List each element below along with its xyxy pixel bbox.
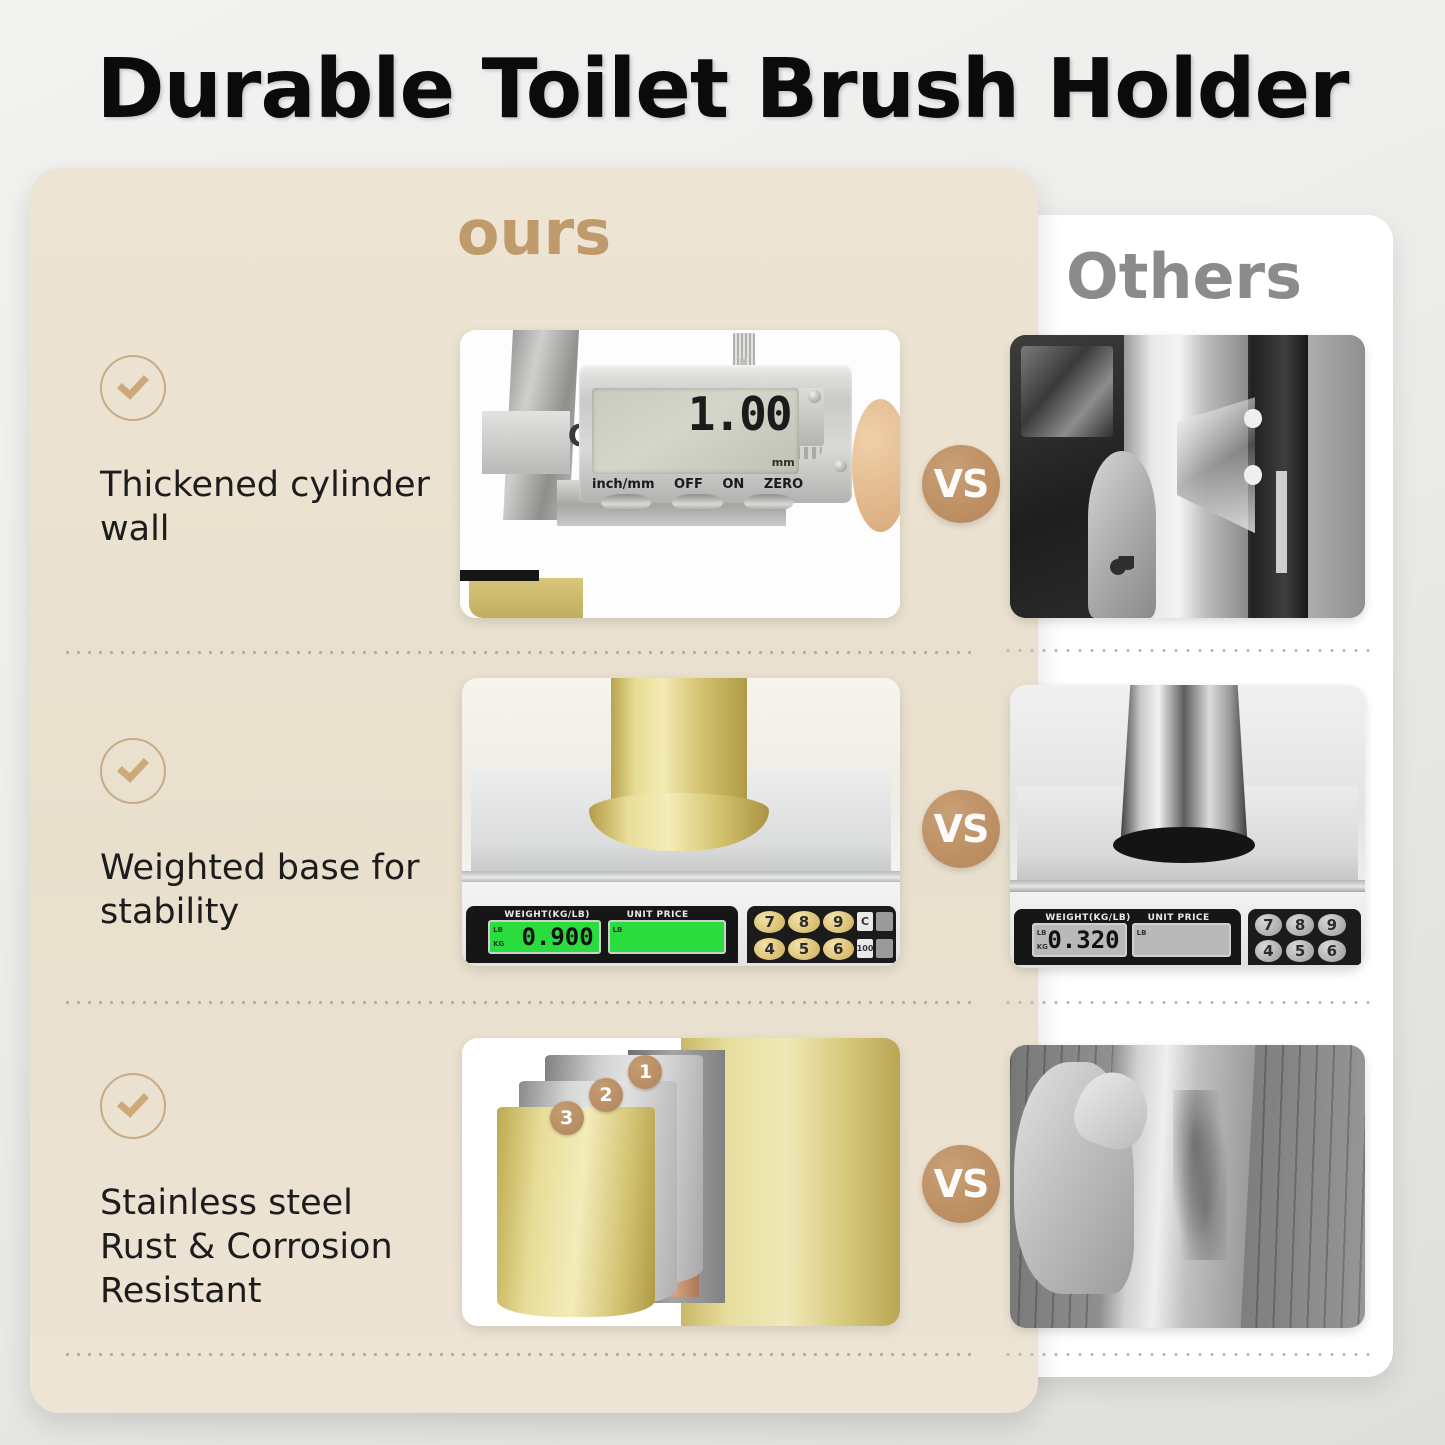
keypad-key-6: 6 xyxy=(823,938,854,960)
divider-ours-1 xyxy=(62,650,974,655)
feature-label-3-line-1: Stainless steel xyxy=(100,1181,430,1225)
comparison-infographic: Durable Toilet Brush Holder ours Others … xyxy=(0,0,1445,1445)
ours-photo-caliper: C 1.00 mm inch/mm OFF ON ZERO xyxy=(460,330,900,618)
check-icon xyxy=(100,738,166,804)
caliper-unit: mm xyxy=(772,456,795,469)
divider-ours-3 xyxy=(62,1352,974,1357)
page-title: Durable Toilet Brush Holder xyxy=(0,42,1445,137)
check-icon xyxy=(100,355,166,421)
scale-unit-lb: LB xyxy=(493,926,503,934)
caliper-btn-label-zero: ZERO xyxy=(764,477,803,492)
others-photo-rusted-tube xyxy=(1010,1045,1365,1328)
feature-label-3-line-3: Resistant xyxy=(100,1269,430,1313)
scale-keypad-others: 7 8 9 4 5 6 xyxy=(1248,909,1362,966)
caliper-button-2 xyxy=(672,494,722,511)
scale-keypad-ours: 7 8 9 C 4 5 6 100 xyxy=(747,906,896,964)
vs-badge-1: VS xyxy=(922,445,1000,523)
keypad-key-4: 4 xyxy=(754,938,785,960)
scale-unitprice-label: UNIT PRICE xyxy=(627,910,689,920)
feature-item-1: Thickened cylinder wall xyxy=(100,355,430,551)
keypad-key-9: 9 xyxy=(823,911,854,933)
caliper-button-1 xyxy=(601,494,651,511)
scale-weight-label-others: WEIGHT(KG/LB) xyxy=(1045,913,1130,923)
keypad-key-4-others: 4 xyxy=(1255,940,1282,962)
feature-label-3: Stainless steel Rust & Corrosion Resista… xyxy=(100,1181,430,1313)
caliper-btn-label-on: ON xyxy=(722,477,744,492)
keypad-key-icon xyxy=(876,912,892,931)
scale-unitprice-label-others: UNIT PRICE xyxy=(1148,913,1210,923)
scale-weight-value: 0.900 xyxy=(521,923,593,951)
scale-unit-kg: KG xyxy=(493,940,504,948)
scale-weight-label: WEIGHT(KG/LB) xyxy=(504,910,589,920)
scale-display-panel-others: WEIGHT(KG/LB) UNIT PRICE LB KG 0.320 LB xyxy=(1014,909,1241,966)
caliper-button-labels: inch/mm OFF ON ZERO xyxy=(592,475,803,492)
divider-others-2 xyxy=(1002,1000,1372,1005)
divider-others-3 xyxy=(1002,1352,1372,1357)
scale-weight-value-others: 0.320 xyxy=(1047,926,1119,954)
feature-label-2: Weighted base for stability xyxy=(100,846,430,934)
vs-badge-2: VS xyxy=(922,790,1000,868)
caliper-buttons xyxy=(601,494,795,511)
caliper-button-3 xyxy=(744,494,794,511)
scale-unit-kg-others: KG xyxy=(1037,943,1048,951)
keypad-key-6-others: 6 xyxy=(1318,940,1345,962)
vs-badge-3: VS xyxy=(922,1145,1000,1223)
scale-weight-lcd-others: LB KG 0.320 xyxy=(1032,923,1127,956)
ours-column-header: ours xyxy=(30,196,1038,269)
feature-label-3-line-2: Rust & Corrosion xyxy=(100,1225,430,1269)
caliper-btn-label-inchmm: inch/mm xyxy=(592,477,655,492)
feature-item-2: Weighted base for stability xyxy=(100,738,430,934)
check-icon xyxy=(100,1073,166,1139)
feature-item-3: Stainless steel Rust & Corrosion Resista… xyxy=(100,1073,430,1313)
others-photo-dented-cylinder xyxy=(1010,335,1365,618)
layer-number-3: 3 xyxy=(550,1101,584,1135)
keypad-key-8: 8 xyxy=(788,911,819,933)
scale-unit-lb-others: LB xyxy=(1037,929,1047,937)
feature-label-1: Thickened cylinder wall xyxy=(100,463,430,551)
scale-unitprice-lcd: LB xyxy=(608,920,726,954)
keypad-key-7-others: 7 xyxy=(1255,914,1282,936)
scale-unitprice-lcd-others: LB xyxy=(1132,923,1231,956)
keypad-key-8-others: 8 xyxy=(1286,914,1313,936)
keypad-key-icon-2 xyxy=(876,939,892,958)
keypad-key-5-others: 5 xyxy=(1286,940,1313,962)
ours-photo-weighted-base: WEIGHT(KG/LB) UNIT PRICE LB KG 0.900 LB … xyxy=(462,678,900,966)
caliper-reading: 1.00 xyxy=(688,391,791,437)
divider-others-1 xyxy=(1002,648,1372,653)
scale-unit-lb-2: LB xyxy=(613,926,623,934)
divider-ours-2 xyxy=(62,1000,974,1005)
others-column-header: Others xyxy=(975,240,1393,313)
keypad-key-7: 7 xyxy=(754,911,785,933)
keypad-key-c: C xyxy=(857,912,873,931)
scale-unit-lb-others-2: LB xyxy=(1137,929,1147,937)
scale-weight-lcd: LB KG 0.900 xyxy=(488,920,601,954)
caliper-btn-label-off: OFF xyxy=(674,477,703,492)
scale-display-panel-ours: WEIGHT(KG/LB) UNIT PRICE LB KG 0.900 LB xyxy=(466,906,738,964)
others-photo-light-base: WEIGHT(KG/LB) UNIT PRICE LB KG 0.320 LB … xyxy=(1010,685,1365,968)
keypad-key-9-others: 9 xyxy=(1318,914,1345,936)
keypad-key-100: 100 xyxy=(857,939,873,958)
keypad-key-5: 5 xyxy=(788,938,819,960)
ours-photo-material-layers: 1 2 3 xyxy=(462,1038,900,1326)
